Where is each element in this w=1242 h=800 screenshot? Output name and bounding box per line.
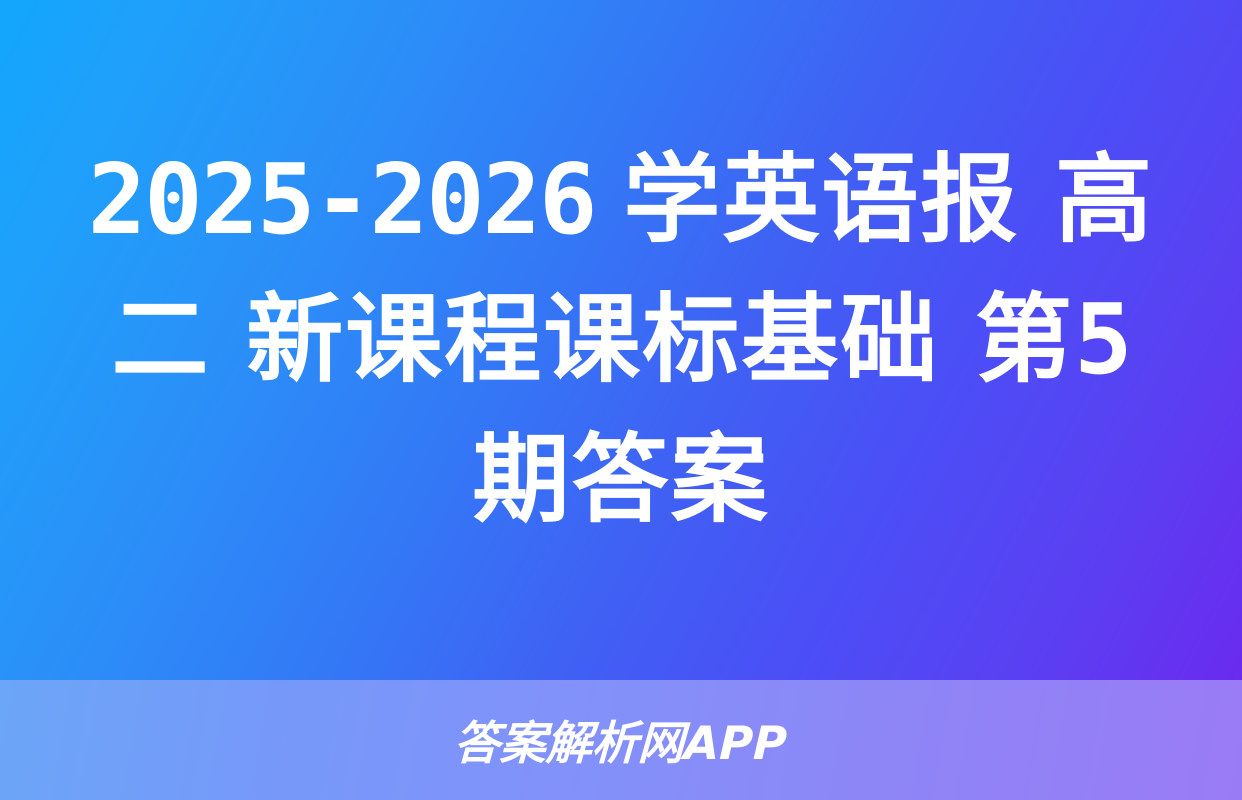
title-issue-number: 5 — [1074, 283, 1130, 396]
title-line-2: 二 新课程课标基础 第5 — [69, 270, 1173, 410]
title-line-1: 2025-2026学英语报 高 — [69, 130, 1173, 270]
title-line-1-text: 学英语报 高 — [623, 143, 1154, 256]
title-line-3-text: 期答案 — [473, 423, 770, 536]
title-line-2-text: 二 新课程课标基础 第 — [112, 283, 1075, 396]
app-brand-label: 答案解析网APP — [453, 707, 788, 773]
poster-banner: 2025-2026学英语报 高 二 新课程课标基础 第5 期答案 — [0, 0, 1242, 680]
page-title: 2025-2026学英语报 高 二 新课程课标基础 第5 期答案 — [61, 130, 1181, 550]
title-year-range: 2025-2026 — [88, 143, 596, 256]
title-line-3: 期答案 — [69, 410, 1173, 550]
poster-footer: 答案解析网APP — [0, 680, 1242, 800]
answer-poster: 2025-2026学英语报 高 二 新课程课标基础 第5 期答案 答案解析网AP… — [0, 0, 1242, 800]
